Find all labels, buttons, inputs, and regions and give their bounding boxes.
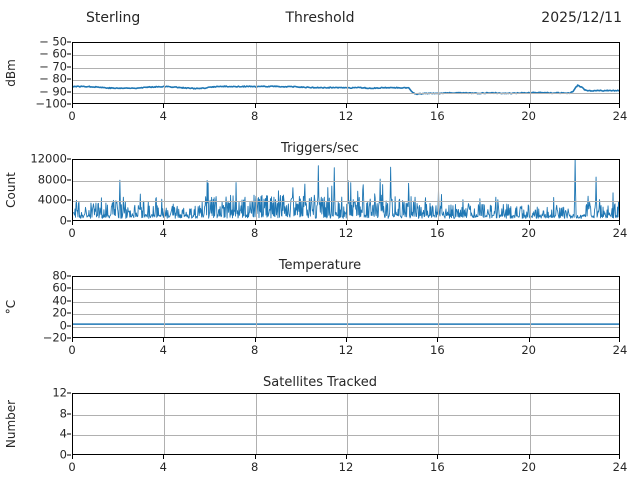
y-tick-mark — [67, 91, 71, 92]
plot-area — [72, 42, 620, 104]
y-tick-mark — [67, 288, 71, 289]
x-tick-mark — [529, 104, 530, 108]
x-tick-label: 12 — [339, 344, 354, 356]
gridline-vertical — [256, 43, 257, 103]
y-tick-mark — [67, 66, 71, 67]
gridline-vertical — [530, 394, 531, 454]
y-tick-label: − 60 — [39, 49, 67, 60]
gridline-vertical — [347, 277, 348, 337]
x-tick-mark — [346, 455, 347, 459]
y-tick-mark — [67, 338, 71, 339]
x-tick-labels: 04812162024 — [72, 221, 620, 243]
y-tick-labels: − 50− 60− 70− 80− 90−100 — [0, 42, 67, 104]
gridline-vertical — [438, 277, 439, 337]
x-tick-label: 4 — [160, 227, 167, 239]
x-tick-label: 24 — [613, 344, 628, 356]
x-tick-mark — [163, 455, 164, 459]
panel-threshold: Threshold dBm − 50− 60− 70− 80− 90−100 0… — [0, 26, 640, 144]
x-tick-mark — [255, 455, 256, 459]
gridline-vertical — [530, 43, 531, 103]
x-tick-label: 0 — [68, 227, 75, 239]
y-tick-label: 0 — [60, 216, 67, 227]
gridline-vertical — [164, 160, 165, 220]
y-tick-mark — [67, 42, 71, 43]
x-tick-mark — [72, 455, 73, 459]
x-tick-mark — [529, 221, 530, 225]
x-tick-mark — [619, 221, 620, 225]
y-tick-label: 20 — [52, 308, 67, 319]
y-tick-label: 0 — [60, 320, 67, 331]
y-tick-mark — [67, 54, 71, 55]
x-tick-mark — [619, 104, 620, 108]
y-tick-label: 12000 — [30, 154, 67, 165]
y-tick-label: 12 — [52, 388, 67, 399]
x-tick-label: 0 — [68, 110, 75, 122]
y-tick-label: −20 — [43, 333, 67, 344]
y-tick-label: 60 — [52, 283, 67, 294]
x-tick-label: 24 — [613, 110, 628, 122]
gridline-vertical — [347, 394, 348, 454]
y-tick-mark — [67, 393, 71, 394]
gridline-vertical — [530, 277, 531, 337]
x-tick-mark — [346, 104, 347, 108]
gridline-horizontal — [73, 93, 619, 94]
gridline-horizontal — [73, 68, 619, 69]
x-tick-mark — [72, 221, 73, 225]
x-tick-label: 24 — [613, 461, 628, 473]
gridline-vertical — [256, 160, 257, 220]
y-tick-mark — [67, 434, 71, 435]
x-tick-mark — [255, 221, 256, 225]
panel-triggers: Triggers/sec Count 04000800012000 048121… — [0, 143, 640, 261]
y-tick-label: 0 — [60, 450, 67, 461]
gridline-vertical — [438, 43, 439, 103]
x-tick-label: 0 — [68, 344, 75, 356]
figure-canvas: Sterling Threshold 2025/12/11 Threshold … — [0, 0, 640, 480]
gridline-vertical — [164, 43, 165, 103]
y-tick-mark — [67, 104, 71, 105]
y-tick-label: 80 — [52, 271, 67, 282]
y-tick-labels: 12840 — [0, 393, 67, 455]
x-tick-label: 12 — [339, 461, 354, 473]
y-tick-label: − 90 — [39, 86, 67, 97]
x-tick-label: 4 — [160, 110, 167, 122]
y-tick-label: 40 — [52, 295, 67, 306]
plot-area — [72, 276, 620, 338]
y-tick-mark — [67, 200, 71, 201]
y-tick-label: − 80 — [39, 74, 67, 85]
x-tick-label: 20 — [521, 227, 536, 239]
panel-title: Satellites Tracked — [0, 375, 640, 391]
y-tick-labels: 806040200−20 — [0, 276, 67, 338]
x-tick-labels: 04812162024 — [72, 455, 620, 477]
x-tick-mark — [346, 338, 347, 342]
x-tick-mark — [529, 338, 530, 342]
x-tick-label: 24 — [613, 227, 628, 239]
x-tick-labels: 04812162024 — [72, 338, 620, 360]
panel-satellites: Satellites Tracked Number 12840 04812162… — [0, 377, 640, 495]
x-tick-mark — [72, 104, 73, 108]
y-tick-mark — [67, 79, 71, 80]
gridline-horizontal — [73, 55, 619, 56]
gridline-horizontal — [73, 327, 619, 328]
y-tick-label: 8 — [60, 408, 67, 419]
gridline-horizontal — [73, 289, 619, 290]
gridline-vertical — [438, 160, 439, 220]
x-tick-label: 8 — [251, 461, 258, 473]
x-tick-label: 16 — [430, 461, 445, 473]
x-tick-label: 16 — [430, 344, 445, 356]
x-tick-mark — [255, 338, 256, 342]
gridline-vertical — [164, 394, 165, 454]
y-tick-mark — [67, 300, 71, 301]
y-tick-label: 4000 — [38, 195, 67, 206]
x-tick-label: 8 — [251, 110, 258, 122]
y-tick-mark — [67, 221, 71, 222]
gridline-vertical — [530, 160, 531, 220]
x-tick-mark — [437, 338, 438, 342]
gridline-vertical — [256, 277, 257, 337]
gridline-horizontal — [73, 435, 619, 436]
x-tick-mark — [529, 455, 530, 459]
x-tick-mark — [437, 221, 438, 225]
y-tick-mark — [67, 313, 71, 314]
x-tick-label: 8 — [251, 344, 258, 356]
x-tick-label: 8 — [251, 227, 258, 239]
x-tick-label: 4 — [160, 344, 167, 356]
date-label: 2025/12/11 — [541, 9, 622, 27]
gridline-vertical — [347, 43, 348, 103]
gridline-horizontal — [73, 302, 619, 303]
y-tick-mark — [67, 413, 71, 414]
y-tick-mark — [67, 325, 71, 326]
panel-title: Temperature — [0, 258, 640, 274]
y-tick-label: 4 — [60, 429, 67, 440]
x-tick-label: 20 — [521, 461, 536, 473]
x-tick-label: 16 — [430, 110, 445, 122]
x-tick-label: 0 — [68, 461, 75, 473]
gridline-horizontal — [73, 314, 619, 315]
x-tick-label: 20 — [521, 110, 536, 122]
y-tick-label: −100 — [35, 99, 67, 110]
gridline-horizontal — [73, 201, 619, 202]
x-tick-labels: 04812162024 — [72, 104, 620, 126]
plot-area — [72, 159, 620, 221]
x-tick-label: 20 — [521, 344, 536, 356]
gridline-vertical — [347, 160, 348, 220]
y-tick-labels: 04000800012000 — [0, 159, 67, 221]
x-tick-mark — [437, 455, 438, 459]
panel-title: Triggers/sec — [0, 141, 640, 157]
y-tick-mark — [67, 455, 71, 456]
gridline-vertical — [256, 394, 257, 454]
gridline-horizontal — [73, 181, 619, 182]
x-tick-label: 12 — [339, 110, 354, 122]
gridline-horizontal — [73, 415, 619, 416]
gridline-vertical — [438, 394, 439, 454]
x-tick-label: 12 — [339, 227, 354, 239]
x-tick-mark — [619, 338, 620, 342]
y-tick-label: 8000 — [38, 174, 67, 185]
gridline-horizontal — [73, 80, 619, 81]
y-tick-label: − 70 — [39, 61, 67, 72]
x-tick-mark — [255, 104, 256, 108]
y-tick-mark — [67, 179, 71, 180]
x-tick-label: 4 — [160, 461, 167, 473]
y-tick-mark — [67, 159, 71, 160]
x-tick-mark — [163, 338, 164, 342]
x-tick-mark — [163, 221, 164, 225]
y-tick-mark — [67, 276, 71, 277]
x-tick-mark — [163, 104, 164, 108]
x-tick-mark — [437, 104, 438, 108]
x-tick-mark — [72, 338, 73, 342]
panel-temperature: Temperature °C 806040200−20 04812162024 — [0, 260, 640, 378]
x-tick-mark — [346, 221, 347, 225]
y-tick-label: − 50 — [39, 37, 67, 48]
plot-area — [72, 393, 620, 455]
x-tick-mark — [619, 455, 620, 459]
x-tick-label: 16 — [430, 227, 445, 239]
gridline-vertical — [164, 277, 165, 337]
